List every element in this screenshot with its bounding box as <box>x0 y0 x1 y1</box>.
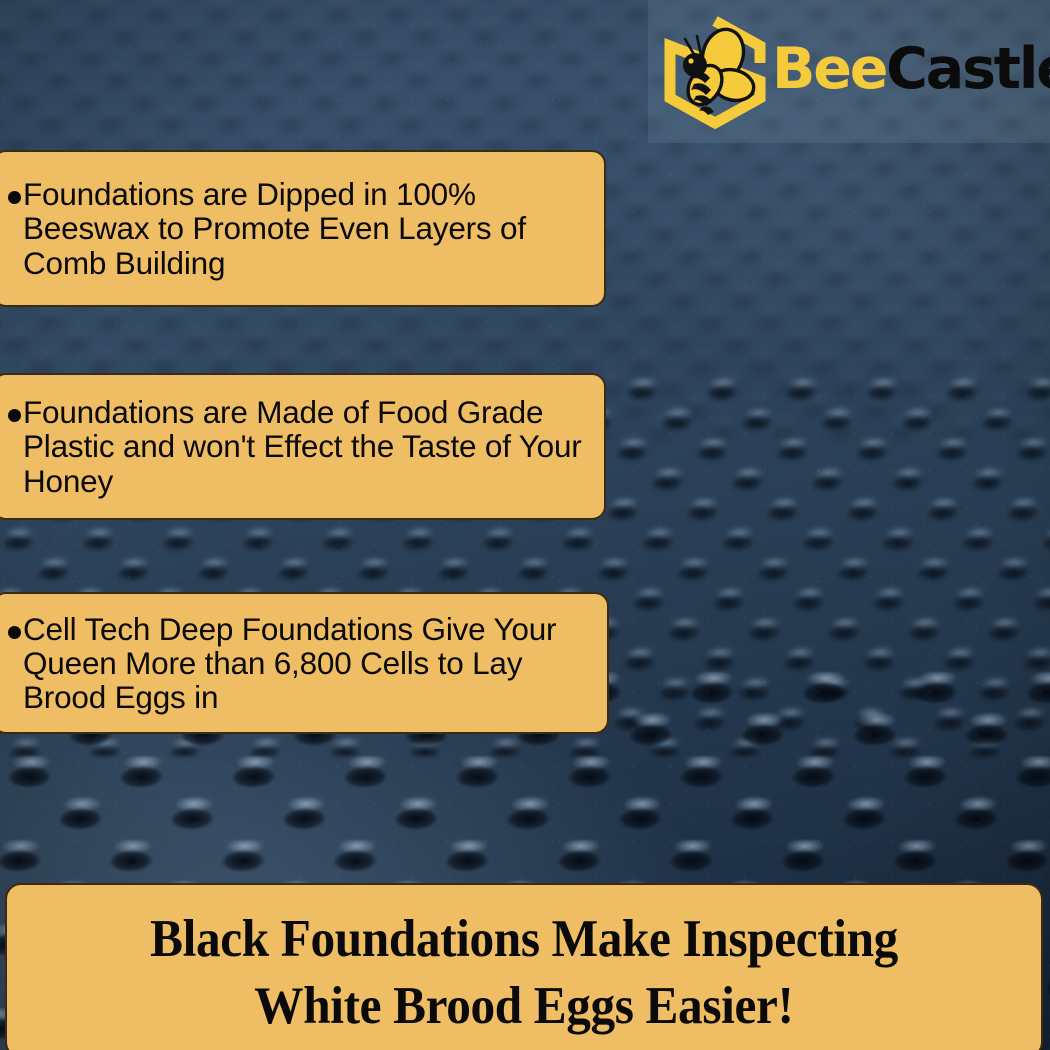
feature-text-3: Cell Tech Deep Foundations Give Your Que… <box>23 612 597 714</box>
feature-text-1: Foundations are Dipped in 100% Beeswax t… <box>23 177 594 279</box>
brand-logo: BeeCastle <box>648 0 1050 143</box>
brand-word-bee: Bee <box>772 36 886 102</box>
bullet-point-icon <box>8 191 21 204</box>
feature-text-2: Foundations are Made of Food Grade Plast… <box>23 395 594 497</box>
headline-line-2: White Brood Eggs Easier! <box>254 973 793 1040</box>
headline-banner: Black Foundations Make Inspecting White … <box>5 883 1043 1050</box>
bullet-row: Cell Tech Deep Foundations Give Your Que… <box>8 612 597 714</box>
headline-line-1: Black Foundations Make Inspecting <box>150 906 898 973</box>
bee-hexagon-icon <box>654 11 776 133</box>
feature-card-3: Cell Tech Deep Foundations Give Your Que… <box>0 592 609 734</box>
bullet-row: Foundations are Dipped in 100% Beeswax t… <box>8 177 594 279</box>
bullet-point-icon <box>8 626 21 639</box>
feature-card-1: Foundations are Dipped in 100% Beeswax t… <box>0 150 606 307</box>
product-infographic: BeeCastle Foundations are Dipped in 100%… <box>0 0 1050 1050</box>
bullet-row: Foundations are Made of Food Grade Plast… <box>8 395 594 497</box>
bullet-point-icon <box>8 409 21 422</box>
brand-wordmark: BeeCastle <box>772 41 1050 98</box>
feature-card-2: Foundations are Made of Food Grade Plast… <box>0 373 606 520</box>
brand-word-castle: Castle <box>886 36 1050 102</box>
